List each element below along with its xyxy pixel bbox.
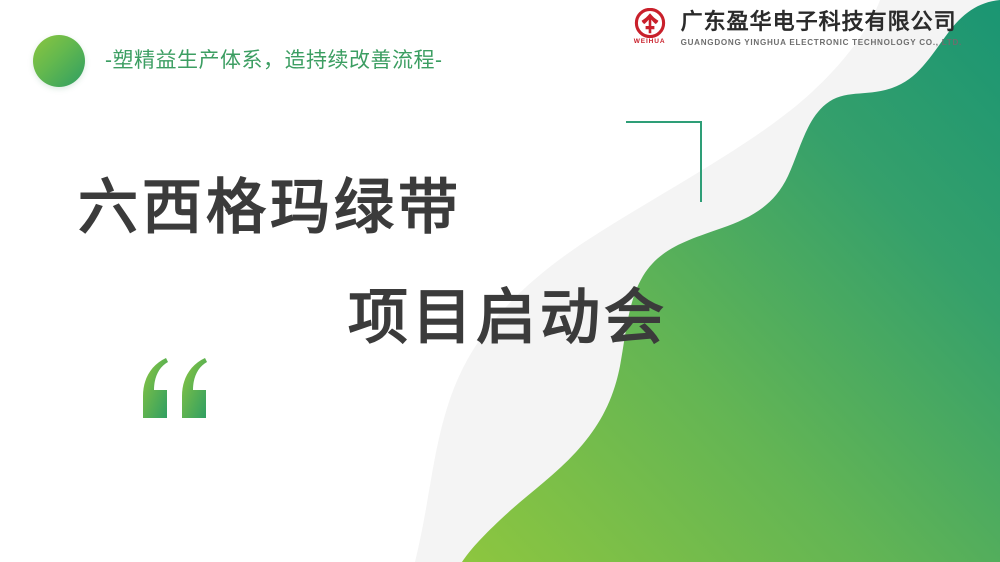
header-decor-dot (33, 35, 85, 87)
company-brand: WEIHUA 广东盈华电子科技有限公司 GUANGDONG YINGHUA EL… (628, 8, 962, 47)
gray-blob-shape (415, 0, 1000, 562)
logo-wordmark: WEIHUA (634, 39, 666, 46)
green-wave-shape (462, 0, 1000, 562)
company-logo: WEIHUA (628, 8, 672, 46)
company-name-en: GUANGDONG YINGHUA ELECTRONIC TECHNOLOGY … (681, 38, 962, 47)
company-name-cn: 广东盈华电子科技有限公司 (681, 9, 962, 35)
slide-tagline: -塑精益生产体系，造持续改善流程- (105, 44, 443, 74)
slide-title-line-1: 六西格玛绿带 (78, 178, 462, 238)
background-decoration (0, 0, 1000, 562)
quote-mark-icon (137, 356, 213, 420)
corner-bracket-decoration (626, 121, 702, 202)
weihua-flame-icon (633, 8, 667, 38)
company-name-block: 广东盈华电子科技有限公司 GUANGDONG YINGHUA ELECTRONI… (681, 8, 962, 47)
presentation-slide: -塑精益生产体系，造持续改善流程- WEIHUA 广东盈华电子科技有限公司 GU… (0, 0, 1000, 562)
slide-title-line-2: 项目启动会 (348, 288, 668, 348)
